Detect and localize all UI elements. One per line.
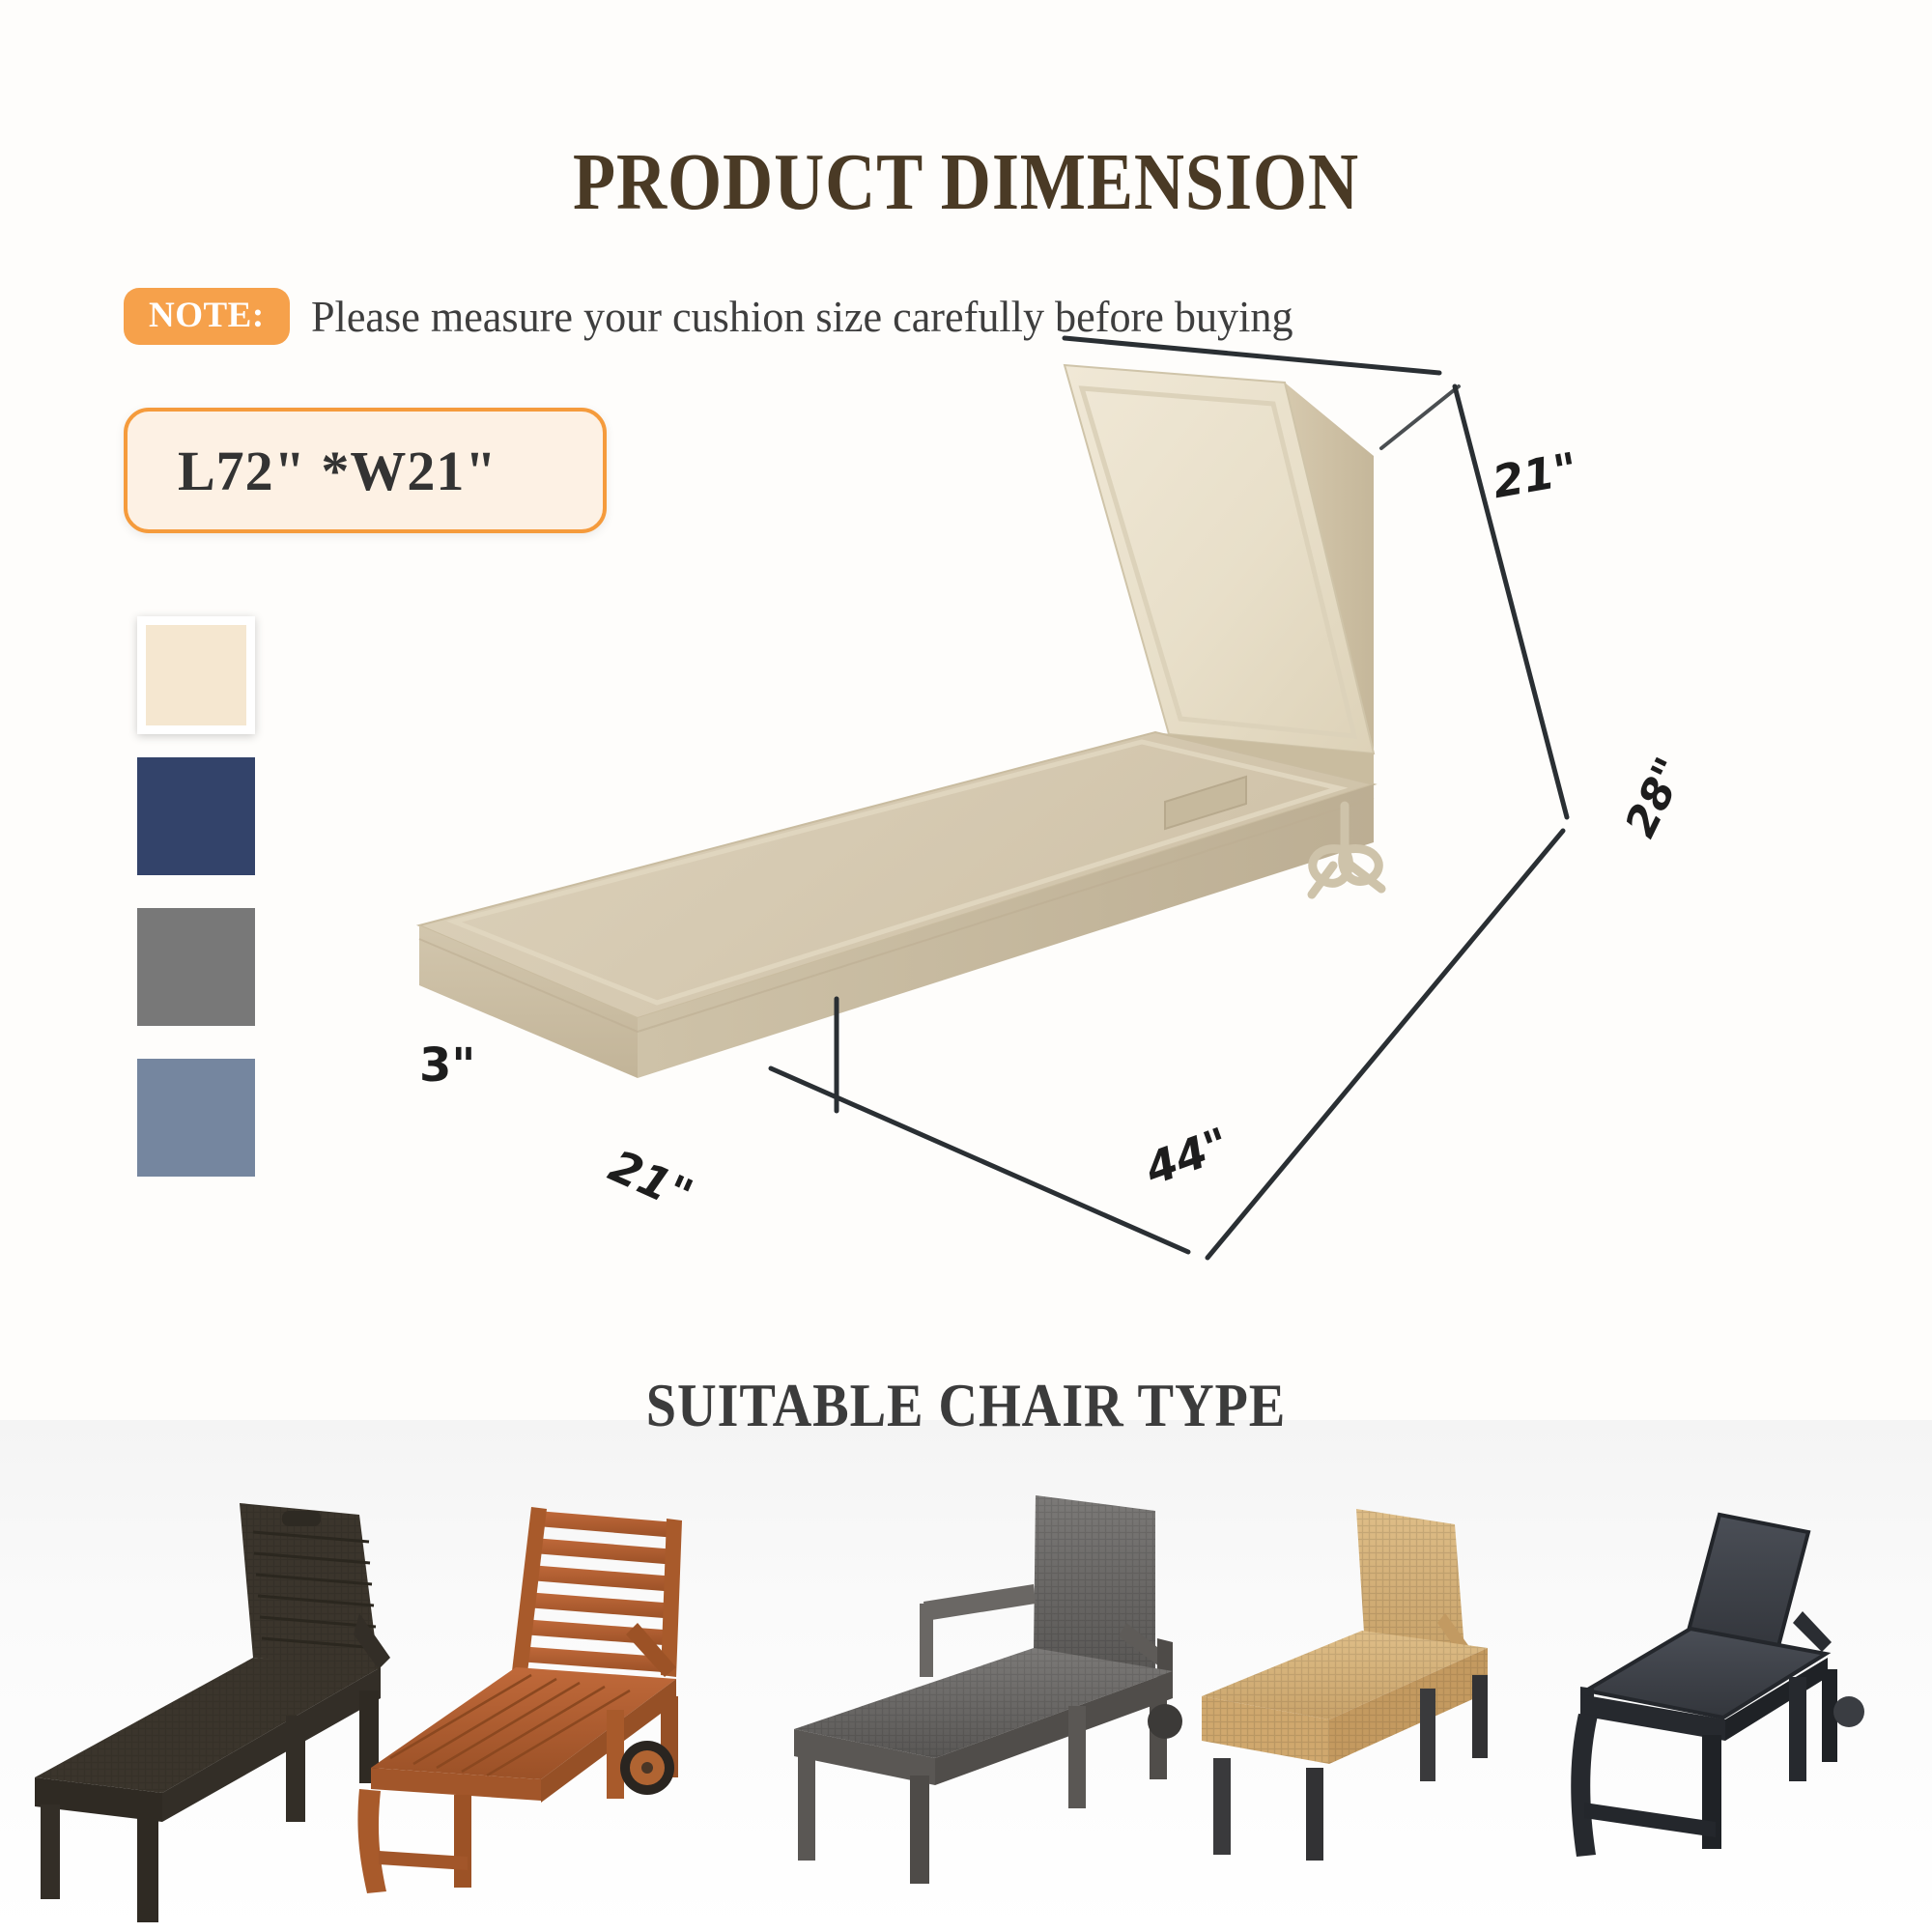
- swatch-beige-selected[interactable]: [137, 616, 255, 734]
- swatch-navy-blue[interactable]: [137, 757, 255, 875]
- infographic-canvas: PRODUCT DIMENSION NOTE: Please measure y…: [0, 0, 1932, 1932]
- swatch-gray[interactable]: [137, 908, 255, 1026]
- dim-label-seat-length: 44": [1138, 1118, 1236, 1196]
- cushion-illustration: [319, 348, 1864, 1101]
- color-swatch-list: [137, 616, 255, 1209]
- page-title: PRODUCT DIMENSION: [135, 135, 1797, 229]
- note-text: Please measure your cushion size careful…: [311, 291, 1293, 342]
- dim-line-44: [1207, 831, 1563, 1258]
- note-row: NOTE: Please measure your cushion size c…: [124, 288, 1334, 345]
- swatch-beige-fill: [146, 625, 246, 725]
- chair-natural-wicker-lounger: [1202, 1509, 1488, 1861]
- swatch-slate-blue[interactable]: [137, 1059, 255, 1177]
- dim-label-seat-width: 21": [602, 1139, 700, 1221]
- chair-black-sling-lounger: [1571, 1515, 1864, 1857]
- note-badge: NOTE:: [124, 288, 290, 345]
- dim-line-bottom-21: [771, 1068, 1188, 1252]
- chair-wooden-lounger: [357, 1507, 682, 1893]
- chair-gray-wicker-lounger: [794, 1495, 1182, 1884]
- section-title-suitable-chairs: SUITABLE CHAIR TYPE: [116, 1370, 1816, 1441]
- chair-type-row: [0, 1468, 1932, 1932]
- dim-label-thickness: 3": [419, 1038, 475, 1093]
- dim-ext-backrest-top: [1381, 386, 1459, 448]
- chair-dark-resin-lounger: [35, 1503, 390, 1922]
